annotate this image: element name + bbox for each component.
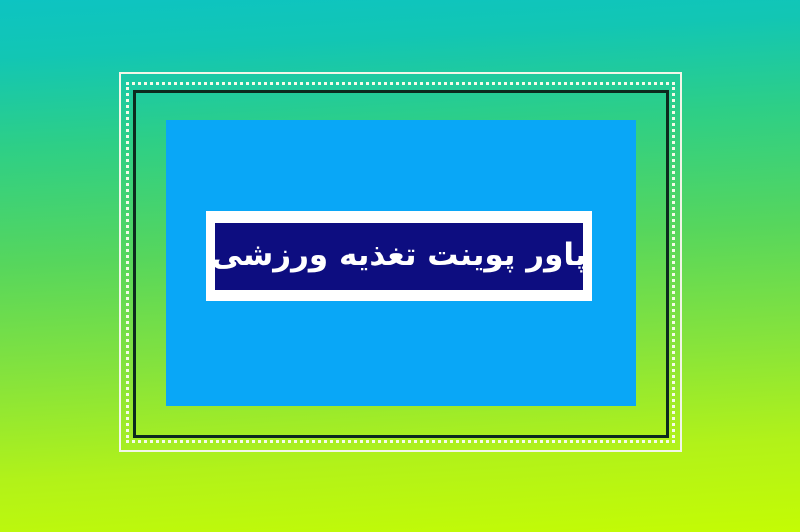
- presentation-slide: پاور پوینت تغذیه ورزشی: [0, 0, 800, 532]
- title-navy-plate: پاور پوینت تغذیه ورزشی: [215, 223, 583, 290]
- slide-title: پاور پوینت تغذیه ورزشی: [215, 240, 583, 271]
- title-white-backdrop: پاور پوینت تغذیه ورزشی: [206, 211, 592, 301]
